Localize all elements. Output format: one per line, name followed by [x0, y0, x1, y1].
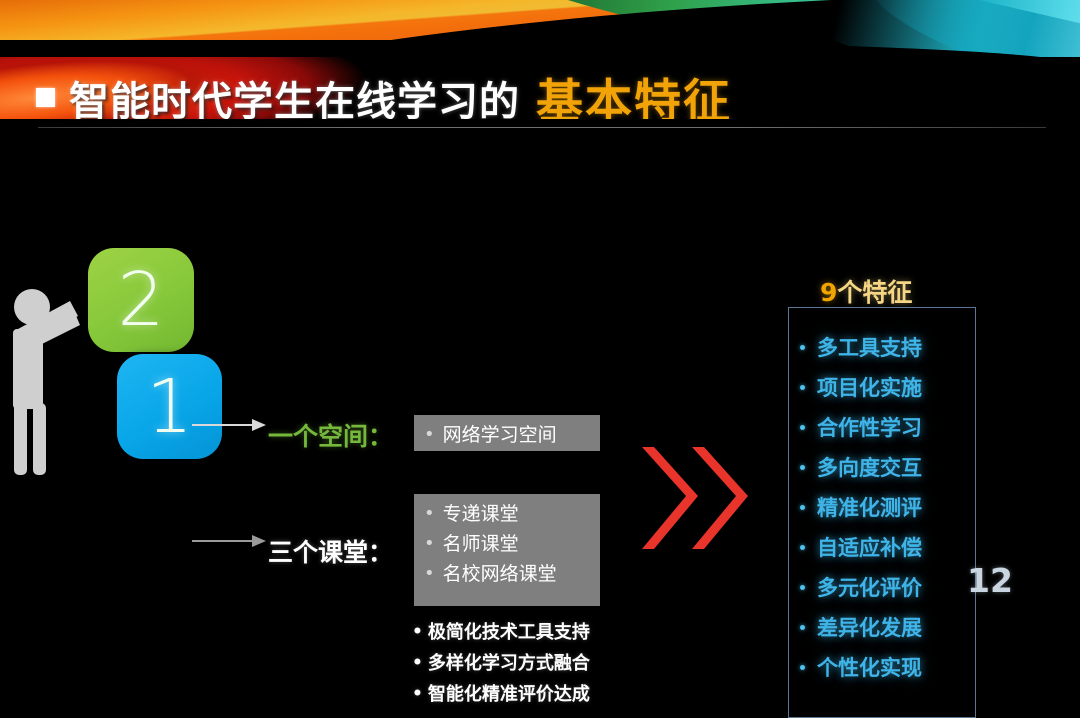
tile-one-number: 1: [146, 370, 193, 444]
list-item-label: 网络学习空间: [443, 420, 557, 450]
list-item-label: 合作性学习: [817, 412, 922, 442]
tile-two-number: 2: [117, 263, 164, 337]
panel-one-space: • 网络学习空间: [414, 415, 600, 451]
connector-arrow-space: [192, 418, 268, 437]
list-item[interactable]: 个性化实现: [800, 647, 976, 687]
list-item-label: 智能化精准评价达成: [428, 679, 590, 710]
list-item-label: 项目化实施: [817, 372, 922, 402]
label-three-classrooms: 三个课堂：: [268, 533, 393, 569]
list-item-label: 多工具支持: [817, 332, 922, 362]
bullet-dot-icon: [800, 345, 805, 350]
list-item-label: 极简化技术工具支持: [428, 617, 590, 648]
list-item[interactable]: 项目化实施: [800, 367, 976, 407]
square-bullet-icon: [36, 88, 55, 107]
list-item[interactable]: 精准化测评: [800, 487, 976, 527]
list-item: • 智能化精准评价达成: [412, 679, 590, 710]
bullet-dot-icon: •: [424, 499, 435, 529]
bullet-dot-icon: [800, 385, 805, 390]
list-item[interactable]: 合作性学习: [800, 407, 976, 447]
list-item-label: 差异化发展: [817, 612, 922, 642]
slide-body: 2 1 一个空间： 三个课堂： • 网络学习空间 • 专递课堂 • 名师课: [0, 130, 1080, 608]
list-item-label: 多元化评价: [817, 572, 922, 602]
bullet-dot-icon: [800, 625, 805, 630]
bullet-dot-icon: [800, 465, 805, 470]
tile-one[interactable]: 1: [117, 354, 222, 459]
label-one-space: 一个空间：: [268, 417, 393, 453]
features-heading: 9个特征: [820, 273, 912, 309]
list-item-label: 名师课堂: [443, 529, 519, 559]
title-divider: [38, 127, 1046, 128]
list-item[interactable]: 多工具支持: [800, 327, 976, 367]
summary-bullet-list: • 极简化技术工具支持 • 多样化学习方式融合 • 智能化精准评价达成: [412, 617, 590, 710]
features-list: 多工具支持 项目化实施 合作性学习 多向度交互 精准化测评 自适应补偿 多元化评…: [800, 327, 976, 687]
list-item: • 多样化学习方式融合: [412, 648, 590, 679]
decorative-top-banner: [0, 0, 1080, 60]
list-item: • 名校网络课堂: [424, 559, 586, 589]
list-item: • 名师课堂: [424, 529, 586, 559]
list-item: • 专递课堂: [424, 499, 586, 529]
list-item-label: 多样化学习方式融合: [428, 648, 590, 679]
bullet-dot-icon: [800, 425, 805, 430]
list-item: • 网络学习空间: [424, 420, 586, 450]
bullet-dot-icon: •: [412, 617, 423, 648]
double-chevron-right-icon: [640, 443, 760, 553]
list-item: • 极简化技术工具支持: [412, 617, 590, 648]
connector-arrow-classroom: [192, 534, 268, 553]
page-title: 智能时代学生在线学习的 基本特征: [36, 63, 732, 119]
list-item[interactable]: 多向度交互: [800, 447, 976, 487]
list-item-label: 自适应补偿: [817, 532, 922, 562]
bullet-dot-icon: [800, 585, 805, 590]
list-item[interactable]: 差异化发展: [800, 607, 976, 647]
list-item-label: 多向度交互: [817, 452, 922, 482]
list-item[interactable]: 多元化评价: [800, 567, 976, 607]
features-count: 9: [820, 278, 837, 307]
person-pointing-icon: [8, 285, 94, 475]
bullet-dot-icon: •: [412, 648, 423, 679]
tile-two[interactable]: 2: [88, 248, 194, 352]
list-item-label: 个性化实现: [817, 652, 922, 682]
bullet-dot-icon: •: [424, 529, 435, 559]
panel-three-classrooms: • 专递课堂 • 名师课堂 • 名校网络课堂: [414, 494, 600, 606]
bullet-dot-icon: •: [412, 679, 423, 710]
list-item-label: 精准化测评: [817, 492, 922, 522]
page-title-main: 智能时代学生在线学习的: [69, 69, 520, 120]
bullet-dot-icon: •: [424, 559, 435, 589]
list-item-label: 名校网络课堂: [443, 559, 557, 589]
bullet-dot-icon: [800, 505, 805, 510]
bullet-dot-icon: [800, 545, 805, 550]
features-heading-label: 个特征: [837, 278, 912, 307]
list-item[interactable]: 自适应补偿: [800, 527, 976, 567]
page-number: 12: [967, 561, 1013, 600]
page-title-accent: 基本特征: [536, 63, 732, 119]
list-item-label: 专递课堂: [443, 499, 519, 529]
bullet-dot-icon: [800, 665, 805, 670]
bullet-dot-icon: •: [424, 420, 435, 450]
slide-title-bar: 智能时代学生在线学习的 基本特征: [0, 57, 1080, 119]
